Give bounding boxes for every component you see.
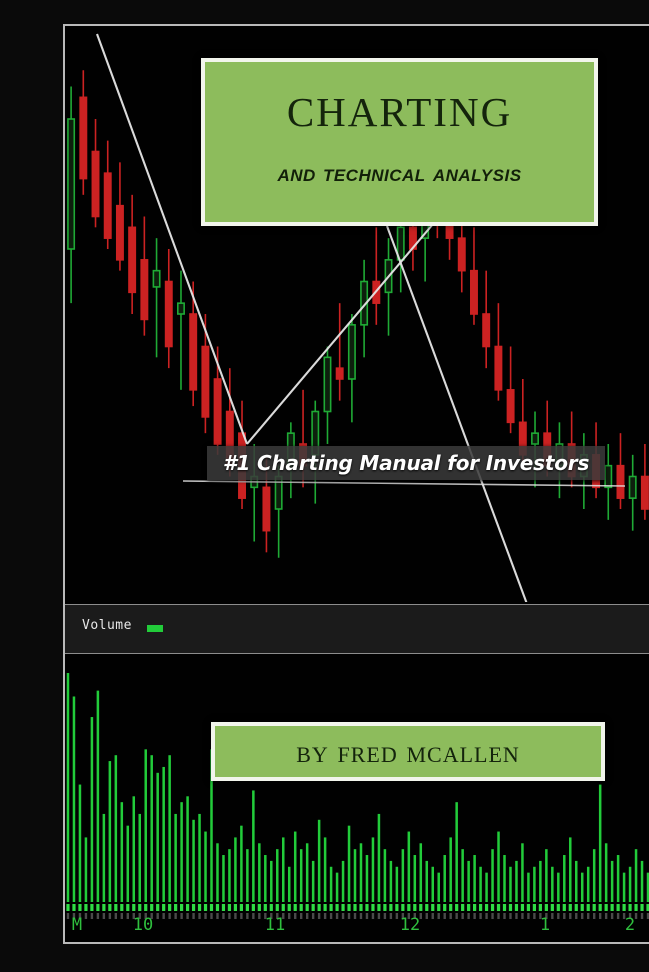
volume-bar: [103, 814, 106, 902]
axis-tick-lower: [449, 913, 451, 919]
volume-bar: [575, 861, 578, 902]
volume-bar: [455, 802, 458, 902]
axis-tick-lower: [246, 913, 248, 919]
axis-tick-upper: [258, 904, 261, 911]
volume-bar: [467, 861, 470, 902]
axis-tick-upper: [341, 904, 344, 911]
volume-bar: [133, 796, 136, 902]
x-axis-label: 2: [625, 915, 635, 935]
volume-bar: [192, 820, 195, 902]
volume-bar: [162, 767, 165, 902]
axis-tick-upper: [192, 904, 195, 911]
x-axis-label: M: [72, 915, 82, 935]
candle-body: [495, 347, 501, 390]
axis-tick-lower: [228, 913, 230, 919]
axis-tick-upper: [485, 904, 488, 911]
book-cover: Volume M10111212 Charting And Technical …: [0, 0, 649, 972]
axis-tick-upper: [359, 904, 362, 911]
candle-body: [471, 271, 477, 314]
candle-body: [214, 379, 220, 444]
volume-bar: [288, 867, 291, 902]
volume-bar: [216, 843, 219, 902]
axis-tick-upper: [455, 904, 458, 911]
axis-tick-lower: [103, 913, 105, 919]
volume-bar: [497, 832, 500, 902]
axis-tick-lower: [210, 913, 212, 919]
candle-body: [642, 477, 648, 510]
volume-bar: [73, 696, 76, 902]
x-axis-label: 1: [540, 915, 550, 935]
volume-bar: [581, 873, 584, 902]
axis-tick-upper: [318, 904, 321, 911]
axis-tick-lower: [168, 913, 170, 919]
title-box: Charting And Technical Analysis: [201, 58, 598, 226]
volume-bar: [420, 843, 423, 902]
axis-tick-upper: [634, 904, 637, 911]
axis-tick-upper: [324, 904, 327, 911]
axis-tick-lower: [348, 913, 350, 919]
volume-bar: [252, 790, 255, 902]
volume-bar: [222, 855, 225, 902]
axis-tick-upper: [306, 904, 309, 911]
axis-tick-upper: [383, 904, 386, 911]
candle-body: [532, 433, 538, 444]
axis-tick-upper: [246, 904, 249, 911]
axis-tick-lower: [533, 913, 535, 919]
axis-tick-upper: [377, 904, 380, 911]
candle-body: [117, 206, 123, 260]
volume-bar: [97, 691, 100, 902]
tagline-text: #1 Charting Manual for Investors: [223, 451, 589, 475]
volume-bar: [156, 773, 159, 902]
volume-bar: [234, 837, 237, 902]
volume-bar: [342, 861, 345, 902]
volume-bar: [629, 867, 632, 902]
axis-tick-upper: [252, 904, 255, 911]
candle-body: [324, 357, 330, 411]
axis-tick-upper: [425, 904, 428, 911]
author-box: By Fred McAllen: [211, 722, 605, 781]
volume-bar: [282, 837, 285, 902]
volume-label: Volume: [82, 618, 132, 633]
axis-tick-upper: [640, 904, 643, 911]
axis-tick-lower: [599, 913, 601, 919]
axis-tick-upper: [210, 904, 213, 911]
volume-bar: [144, 749, 147, 902]
axis-tick-lower: [575, 913, 577, 919]
candle-body: [166, 282, 172, 347]
axis-tick-upper: [473, 904, 476, 911]
axis-tick-upper: [162, 904, 165, 911]
candle-body: [141, 260, 147, 320]
axis-tick-lower: [503, 913, 505, 919]
axis-tick-upper: [198, 904, 201, 911]
axis-tick-upper: [551, 904, 554, 911]
axis-tick-upper: [156, 904, 159, 911]
axis-tick-upper: [90, 904, 93, 911]
volume-bar: [437, 873, 440, 902]
candle-body: [68, 119, 74, 249]
volume-bar: [67, 673, 70, 902]
volume-bar: [240, 826, 243, 902]
volume-bar: [258, 843, 261, 902]
x-axis-label: 10: [133, 915, 153, 935]
volume-bar: [115, 755, 118, 902]
axis-tick-upper: [593, 904, 596, 911]
trendline: [247, 224, 433, 444]
axis-tick-lower: [240, 913, 242, 919]
axis-tick-upper: [150, 904, 153, 911]
volume-bar: [372, 837, 375, 902]
axis-tick-lower: [294, 913, 296, 919]
axis-tick-upper: [168, 904, 171, 911]
axis-tick-lower: [438, 913, 440, 919]
axis-tick-lower: [617, 913, 619, 919]
axis-tick-lower: [557, 913, 559, 919]
axis-tick-lower: [216, 913, 218, 919]
volume-bar: [443, 855, 446, 902]
axis-tick-lower: [330, 913, 332, 919]
volume-bar: [180, 802, 183, 902]
volume-bar: [503, 855, 506, 902]
axis-tick-upper: [521, 904, 524, 911]
axis-tick-upper: [96, 904, 99, 911]
axis-tick-upper: [138, 904, 141, 911]
axis-tick-upper: [509, 904, 512, 911]
axis-tick-upper: [371, 904, 374, 911]
candle-body: [190, 314, 196, 390]
volume-header-bar: Volume: [65, 604, 649, 654]
candle-body: [153, 271, 159, 287]
axis-tick-upper: [419, 904, 422, 911]
volume-histogram: M10111212: [65, 655, 649, 944]
axis-tick-lower: [300, 913, 302, 919]
axis-tick-upper: [515, 904, 518, 911]
candle-body: [617, 466, 623, 499]
axis-tick-lower: [234, 913, 236, 919]
axis-tick-upper: [437, 904, 440, 911]
axis-tick-lower: [372, 913, 374, 919]
axis-tick-upper: [563, 904, 566, 911]
volume-bar: [402, 849, 405, 902]
axis-tick-lower: [611, 913, 613, 919]
axis-tick-lower: [473, 913, 475, 919]
axis-tick-lower: [455, 913, 457, 919]
volume-bar: [509, 867, 512, 902]
volume-bar: [204, 832, 207, 902]
axis-tick-upper: [329, 904, 332, 911]
axis-tick-upper: [449, 904, 452, 911]
volume-bar: [641, 861, 644, 902]
axis-tick-upper: [611, 904, 614, 911]
axis-tick-upper: [270, 904, 273, 911]
axis-tick-upper: [144, 904, 147, 911]
axis-tick-upper: [126, 904, 129, 911]
volume-bar: [617, 855, 620, 902]
axis-tick-lower: [192, 913, 194, 919]
axis-tick-upper: [479, 904, 482, 911]
axis-tick-upper: [545, 904, 548, 911]
axis-tick-lower: [186, 913, 188, 919]
axis-tick-lower: [396, 913, 398, 919]
axis-tick-upper: [264, 904, 267, 911]
volume-bar: [545, 849, 548, 902]
volume-bar: [485, 873, 488, 902]
volume-bar: [587, 867, 590, 902]
volume-bar: [431, 867, 434, 902]
volume-bar: [479, 867, 482, 902]
axis-tick-lower: [521, 913, 523, 919]
axis-tick-lower: [587, 913, 589, 919]
axis-tick-upper: [569, 904, 572, 911]
axis-tick-upper: [294, 904, 297, 911]
volume-bar: [85, 837, 88, 902]
axis-tick-lower: [204, 913, 206, 919]
volume-bar: [384, 849, 387, 902]
axis-tick-upper: [575, 904, 578, 911]
axis-tick-lower: [378, 913, 380, 919]
axis-tick-upper: [599, 904, 602, 911]
axis-tick-lower: [312, 913, 314, 919]
axis-tick-upper: [186, 904, 189, 911]
axis-tick-lower: [551, 913, 553, 919]
axis-tick-lower: [641, 913, 643, 919]
axis-tick-lower: [384, 913, 386, 919]
axis-tick-lower: [491, 913, 493, 919]
axis-tick-upper: [66, 904, 69, 911]
volume-bar: [461, 849, 464, 902]
axis-tick-upper: [587, 904, 590, 911]
axis-tick-upper: [353, 904, 356, 911]
volume-bar: [121, 802, 124, 902]
axis-tick-lower: [390, 913, 392, 919]
volume-bar: [246, 849, 249, 902]
axis-tick-lower: [485, 913, 487, 919]
axis-tick-upper: [78, 904, 81, 911]
x-axis-label: 11: [265, 915, 285, 935]
axis-tick-lower: [581, 913, 583, 919]
volume-bar: [623, 873, 626, 902]
volume-bar: [557, 873, 560, 902]
volume-bar: [390, 861, 393, 902]
axis-tick-lower: [288, 913, 290, 919]
axis-tick-upper: [407, 904, 410, 911]
candle-body: [605, 466, 611, 488]
volume-bar: [378, 814, 381, 902]
volume-bar: [276, 849, 279, 902]
volume-bar: [563, 855, 566, 902]
volume-bar: [324, 837, 327, 902]
candle-body: [507, 390, 513, 423]
axis-tick-lower: [354, 913, 356, 919]
candle-body: [459, 238, 465, 271]
axis-tick-upper: [539, 904, 542, 911]
axis-tick-upper: [581, 904, 584, 911]
candle-body: [80, 97, 86, 178]
axis-tick-lower: [426, 913, 428, 919]
x-axis-label: 12: [400, 915, 420, 935]
axis-tick-lower: [563, 913, 565, 919]
volume-bar: [635, 849, 638, 902]
axis-tick-lower: [109, 913, 111, 919]
axis-tick-upper: [389, 904, 392, 911]
volume-bar: [228, 849, 231, 902]
tagline-banner: #1 Charting Manual for Investors: [207, 446, 605, 480]
volume-bar: [127, 826, 130, 902]
axis-tick-lower: [635, 913, 637, 919]
axis-tick-lower: [479, 913, 481, 919]
axis-tick-upper: [234, 904, 237, 911]
candle-body: [105, 173, 111, 238]
volume-bar: [569, 837, 572, 902]
axis-tick-lower: [121, 913, 123, 919]
volume-bar: [366, 855, 369, 902]
candle-body: [92, 152, 98, 217]
volume-bar: [306, 843, 309, 902]
axis-tick-upper: [204, 904, 207, 911]
axis-tick-lower: [91, 913, 93, 919]
axis-tick-upper: [491, 904, 494, 911]
axis-tick-lower: [162, 913, 164, 919]
axis-tick-lower: [461, 913, 463, 919]
axis-tick-lower: [85, 913, 87, 919]
axis-tick-lower: [198, 913, 200, 919]
volume-bar: [449, 837, 452, 902]
axis-tick-lower: [432, 913, 434, 919]
axis-tick-lower: [306, 913, 308, 919]
axis-tick-lower: [366, 913, 368, 919]
axis-tick-upper: [628, 904, 631, 911]
axis-tick-upper: [527, 904, 530, 911]
trendline: [387, 226, 527, 602]
volume-bar: [533, 867, 536, 902]
volume-bar: [396, 867, 399, 902]
axis-tick-lower: [527, 913, 529, 919]
axis-tick-upper: [467, 904, 470, 911]
volume-bar: [138, 814, 141, 902]
volume-bar: [264, 855, 267, 902]
volume-bar: [527, 873, 530, 902]
volume-color-swatch: [147, 625, 163, 632]
volume-bar: [515, 861, 518, 902]
axis-tick-lower: [515, 913, 517, 919]
axis-tick-upper: [347, 904, 350, 911]
axis-tick-upper: [461, 904, 464, 911]
axis-tick-upper: [180, 904, 183, 911]
axis-tick-lower: [342, 913, 344, 919]
volume-bar: [109, 761, 112, 902]
candle-body: [630, 477, 636, 499]
volume-bar: [354, 849, 357, 902]
volume-bar: [348, 826, 351, 902]
axis-tick-upper: [533, 904, 536, 911]
axis-tick-lower: [593, 913, 595, 919]
volume-bar: [300, 849, 303, 902]
axis-tick-upper: [557, 904, 560, 911]
axis-tick-lower: [509, 913, 511, 919]
candle-body: [263, 487, 269, 530]
axis-tick-upper: [431, 904, 434, 911]
axis-tick-upper: [413, 904, 416, 911]
volume-bar: [521, 843, 524, 902]
axis-tick-lower: [174, 913, 176, 919]
volume-bar: [294, 832, 297, 902]
axis-tick-upper: [132, 904, 135, 911]
axis-tick-lower: [180, 913, 182, 919]
volume-bar: [408, 832, 411, 902]
axis-tick-lower: [156, 913, 158, 919]
volume-bar: [414, 855, 417, 902]
axis-tick-lower: [67, 913, 69, 919]
volume-bar: [336, 873, 339, 902]
volume-bar: [360, 843, 363, 902]
volume-bar: [318, 820, 321, 902]
volume-bar: [491, 849, 494, 902]
axis-tick-upper: [174, 904, 177, 911]
volume-pane: M10111212: [65, 655, 649, 944]
volume-bar: [539, 861, 542, 902]
volume-bar: [605, 843, 608, 902]
axis-tick-upper: [72, 904, 75, 911]
volume-bar: [91, 717, 94, 902]
axis-tick-upper: [228, 904, 231, 911]
axis-tick-upper: [114, 904, 117, 911]
axis-tick-upper: [276, 904, 279, 911]
axis-tick-lower: [569, 913, 571, 919]
axis-tick-lower: [444, 913, 446, 919]
axis-tick-upper: [300, 904, 303, 911]
candle-body: [202, 347, 208, 417]
axis-tick-upper: [216, 904, 219, 911]
axis-tick-lower: [222, 913, 224, 919]
axis-tick-lower: [127, 913, 129, 919]
axis-tick-upper: [120, 904, 123, 911]
volume-bar: [593, 849, 596, 902]
volume-bar: [551, 867, 554, 902]
volume-bar: [330, 867, 333, 902]
volume-bar: [312, 861, 315, 902]
volume-bar: [270, 861, 273, 902]
axis-tick-lower: [258, 913, 260, 919]
axis-tick-upper: [222, 904, 225, 911]
axis-tick-lower: [360, 913, 362, 919]
page-subtitle: And Technical Analysis: [277, 160, 521, 188]
axis-tick-lower: [318, 913, 320, 919]
volume-bar: [198, 814, 201, 902]
candle-body: [349, 325, 355, 379]
volume-bar: [473, 855, 476, 902]
volume-bar: [426, 861, 429, 902]
axis-tick-lower: [115, 913, 117, 919]
axis-tick-upper: [617, 904, 620, 911]
axis-tick-upper: [102, 904, 105, 911]
volume-bar: [150, 755, 153, 902]
axis-tick-lower: [605, 913, 607, 919]
axis-tick-upper: [401, 904, 404, 911]
axis-tick-upper: [365, 904, 368, 911]
page-title: Charting: [287, 78, 512, 136]
volume-bar: [599, 785, 602, 902]
candle-body: [483, 314, 489, 347]
axis-tick-upper: [622, 904, 625, 911]
axis-tick-lower: [467, 913, 469, 919]
volume-bar: [186, 796, 189, 902]
axis-tick-lower: [497, 913, 499, 919]
axis-tick-upper: [605, 904, 608, 911]
axis-tick-lower: [324, 913, 326, 919]
author-name: By Fred McAllen: [296, 734, 520, 770]
axis-tick-upper: [503, 904, 506, 911]
